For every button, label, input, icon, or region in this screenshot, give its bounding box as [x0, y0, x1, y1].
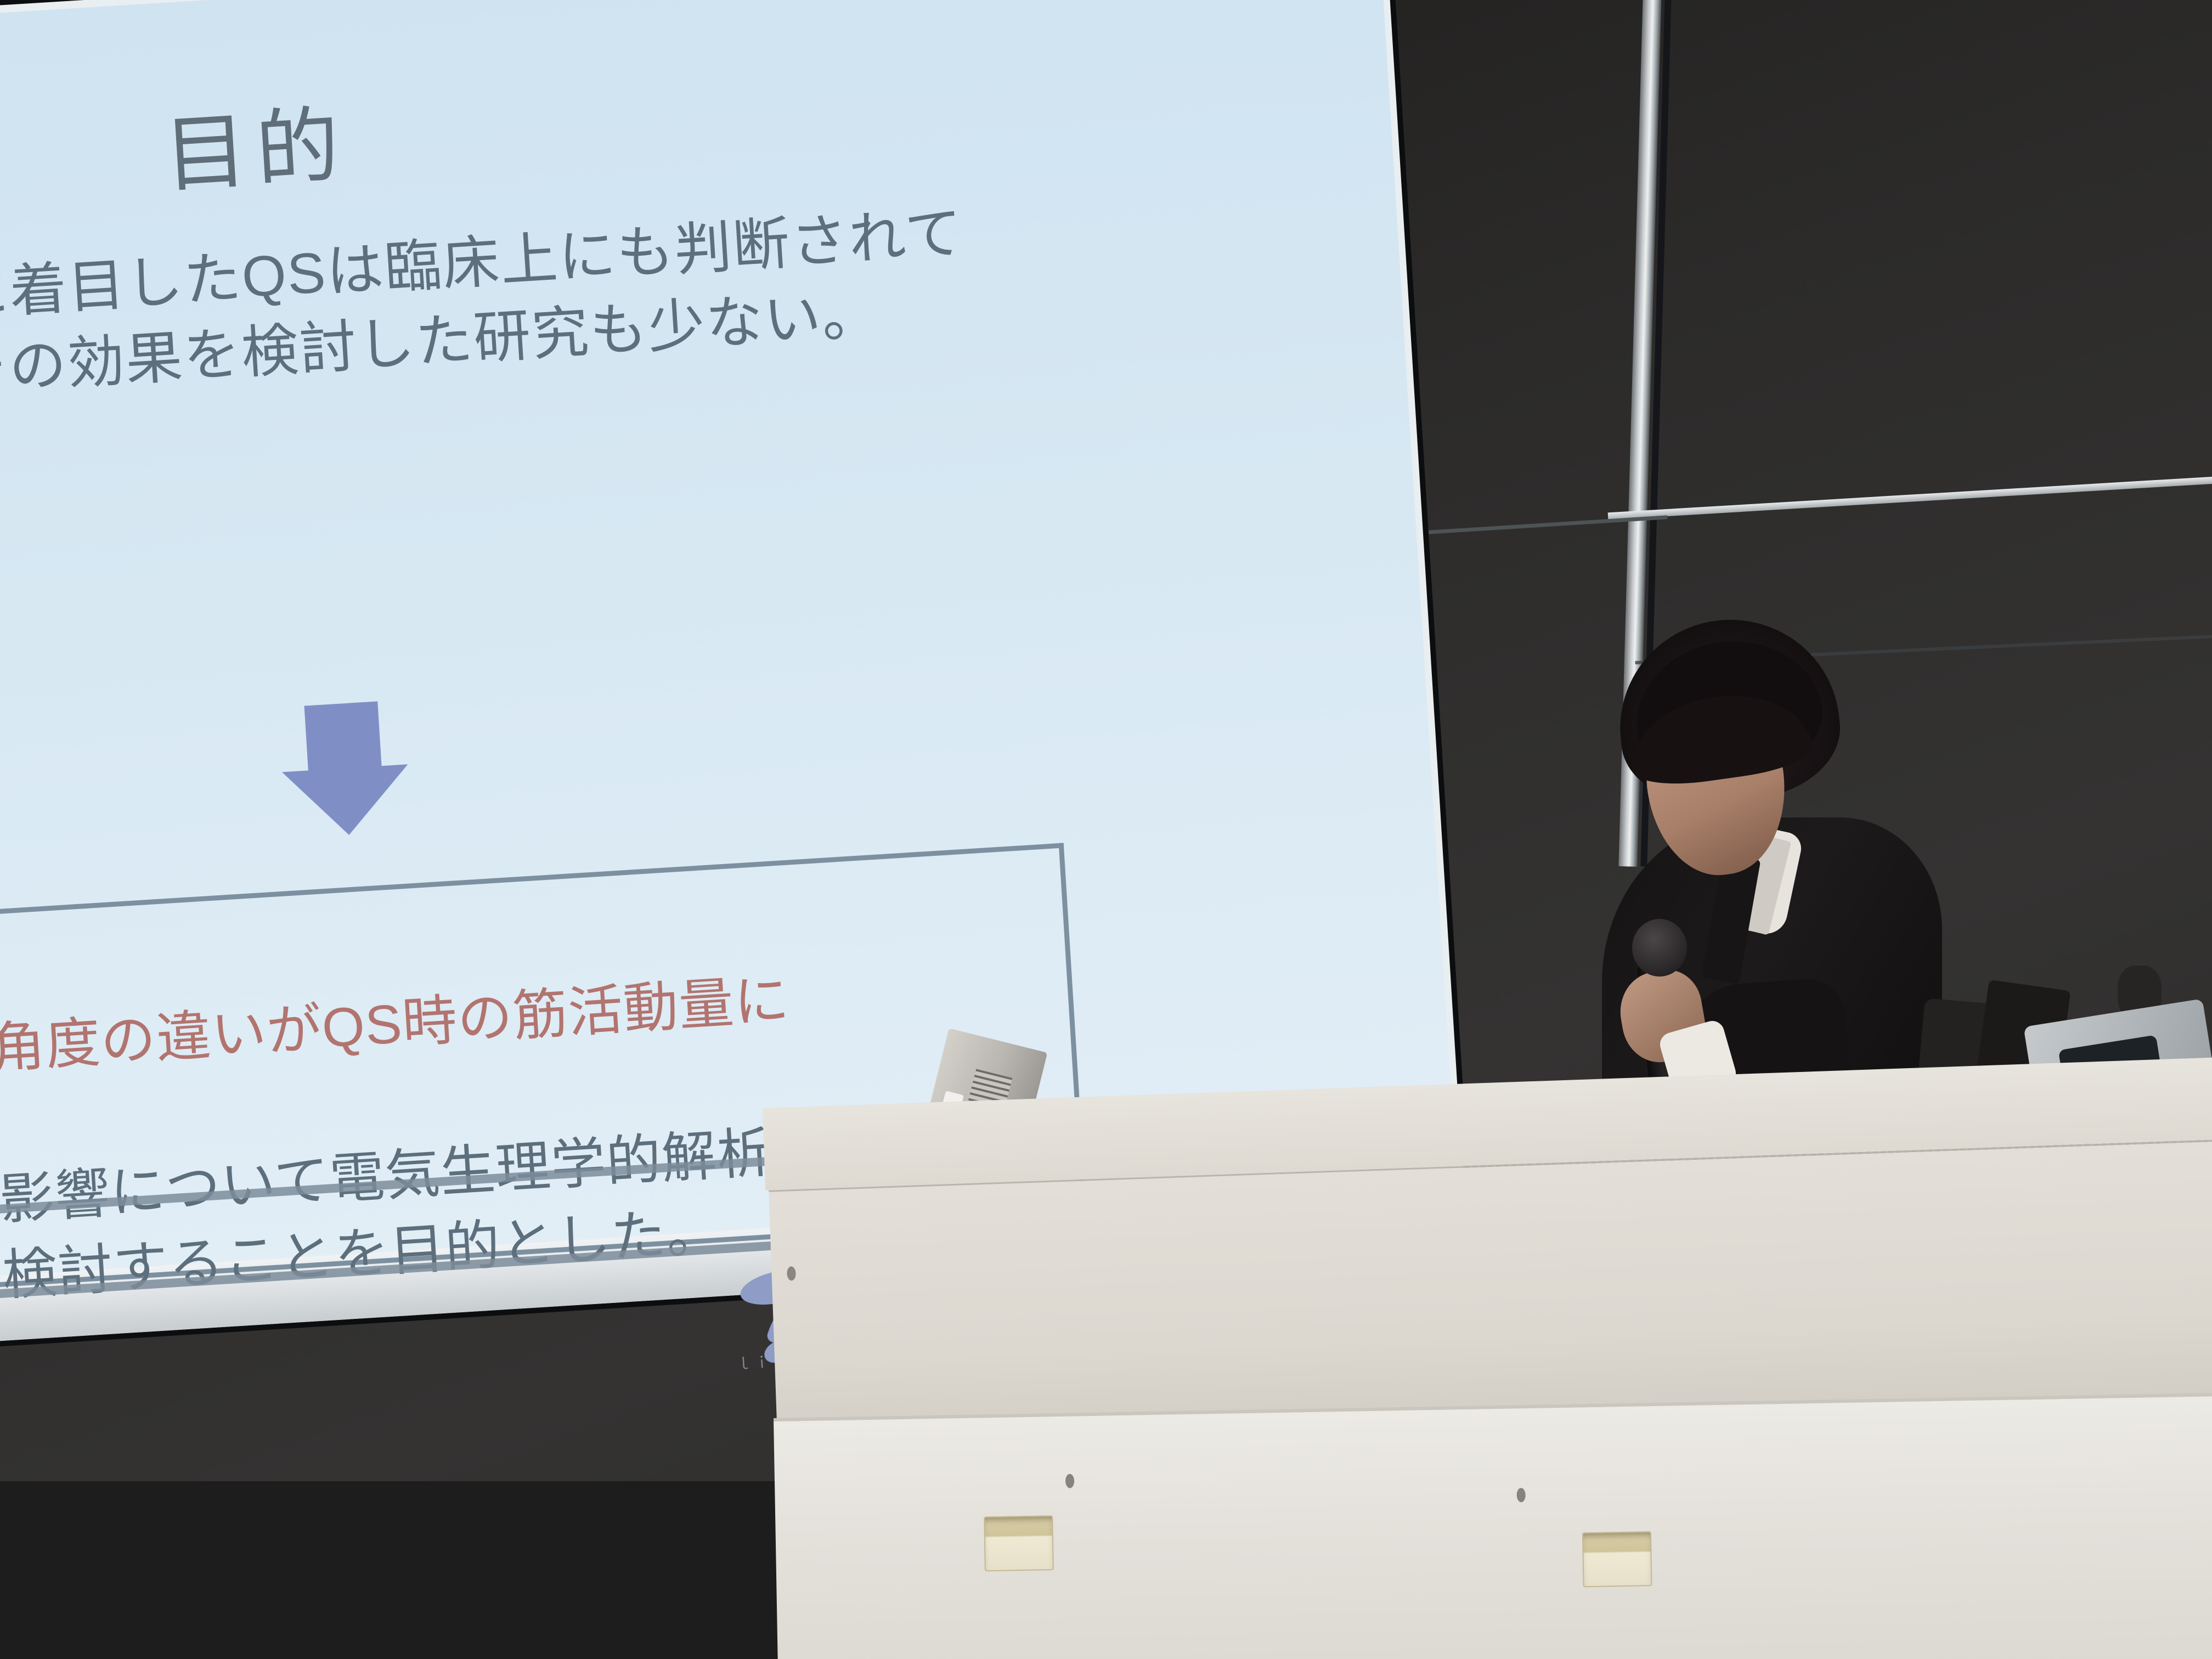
cabinet-screw: [1065, 1474, 1074, 1488]
screen-surface: 目的 部肢位に着目したQSは臨床上にも判断されて らず、その効果を検討した研究も…: [0, 0, 1457, 1281]
cabinet-handle[interactable]: [984, 1515, 1054, 1571]
cabinet-screw: [1516, 1488, 1525, 1502]
slide-body-text: 部肢位に着目したQSは臨床上にも判断されて らず、その効果を検討した研究も少ない…: [0, 187, 1099, 420]
presentation-photo-scene: 目的 部肢位に着目したQSは臨床上にも判断されて らず、その効果を検討した研究も…: [0, 0, 2212, 1659]
slide-callout-highlight: 足関節角度の違いがQS時の筋活動量に: [0, 969, 791, 1090]
lower-cabinet: [774, 1393, 2212, 1659]
handheld-microphone-icon: [1632, 919, 1687, 977]
slide: 目的 部肢位に着目したQSは臨床上にも判断されて らず、その効果を検討した研究も…: [0, 0, 1457, 1281]
slide-title: 目的: [160, 77, 351, 208]
cabinet-handle[interactable]: [1582, 1531, 1652, 1587]
down-arrow-icon: [278, 699, 412, 839]
